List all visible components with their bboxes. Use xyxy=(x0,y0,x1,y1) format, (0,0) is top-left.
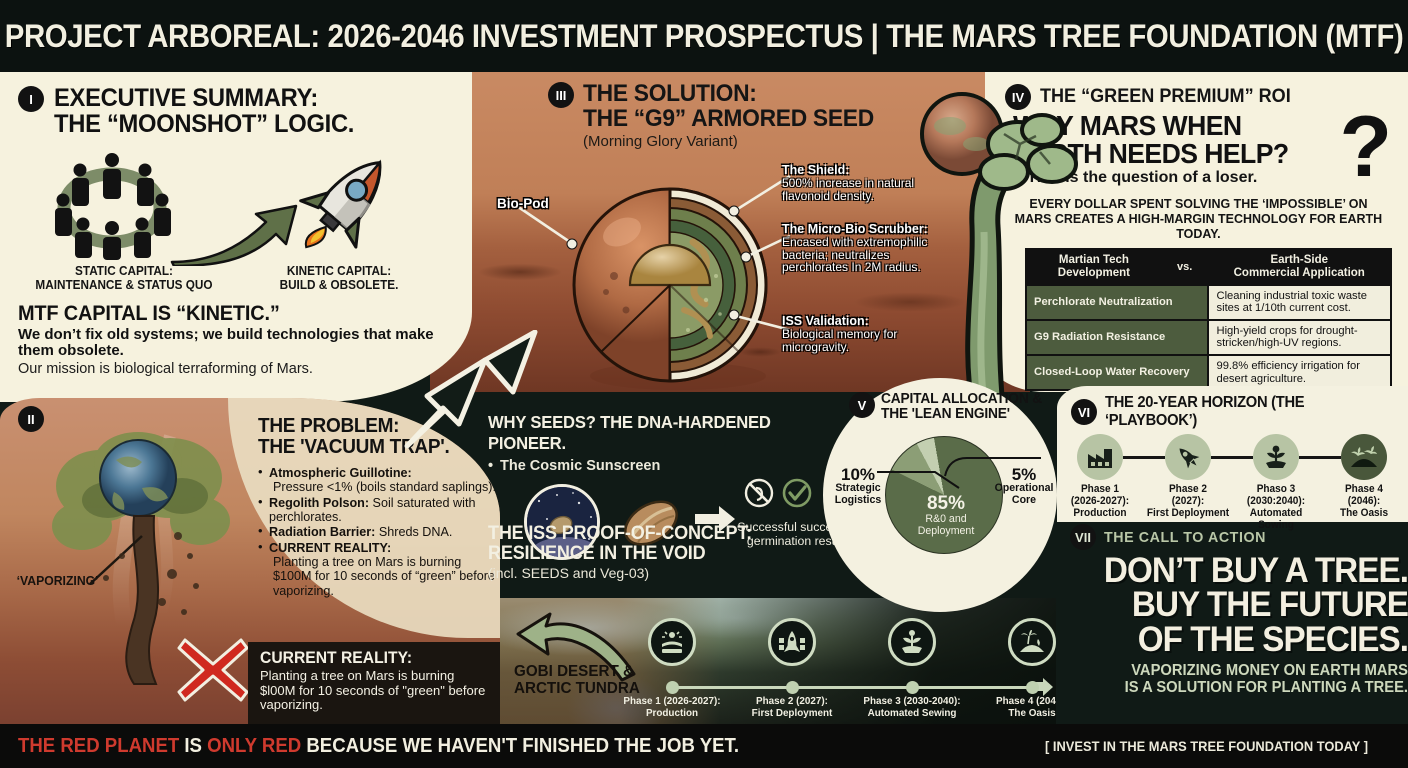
success-check-icon xyxy=(782,478,812,508)
rocket-launch-icon xyxy=(778,630,806,654)
table-row: Perchlorate Neutralization Cleaning indu… xyxy=(1027,285,1390,320)
oasis-icon xyxy=(1349,445,1379,469)
callout-desc: Encased with extremophilic bacteria; neu… xyxy=(782,236,950,274)
cta-headline: DON’T BUY A TREE. BUY THE FUTURE OF THE … xyxy=(1087,554,1408,657)
timeline-caption-phase-2: Phase 2 (2027): First Deployment xyxy=(735,696,849,721)
footer-mid-2: BECAUSE WE HAVEN'T FINISHED THE JOB YET. xyxy=(301,735,739,757)
caption-static-capital: STATIC CAPITAL: MAINTENANCE & STATUS QUO xyxy=(21,264,228,292)
executive-header: I EXECUTIVE SUMMARY: THE “MOONSHOT” LOGI… xyxy=(0,72,472,138)
callout-the-shield: The Shield: 500% increase in natural fla… xyxy=(782,163,950,202)
iss-title: THE ISS PROOF-OF-CONCEPT: RESILIENCE IN … xyxy=(488,524,802,564)
callout-desc: Biological memory for microgravity. xyxy=(782,328,950,353)
bullet-label: CURRENT REALITY: xyxy=(269,541,391,555)
timeline-dot xyxy=(666,681,679,694)
playbook-node-phase-3 xyxy=(1253,434,1299,480)
cta-subline: VAPORIZING MONEY ON EARTH MARS IS A SOLU… xyxy=(1087,662,1408,696)
callout-title: The Micro-Bio Scrubber: xyxy=(782,222,950,236)
playbook-phase-row xyxy=(1057,434,1408,482)
current-reality-title: CURRENT REALITY: xyxy=(260,649,479,668)
sprout-icon xyxy=(1263,444,1289,470)
factory-icon xyxy=(1087,445,1113,469)
section-numeral-v: V xyxy=(849,392,875,418)
cta-header: VII THE CALL TO ACTION xyxy=(1070,524,1408,550)
footer-bar: THE RED PLANET IS ONLY RED BECAUSE WE HA… xyxy=(0,724,1408,768)
pie-leader-right xyxy=(935,446,1045,480)
callout-title: The Shield: xyxy=(782,163,950,177)
timeline-caption-phase-1: Phase 1 (2026-2027): Production xyxy=(615,696,729,721)
red-x-icon xyxy=(175,634,251,706)
solution-subtitle: (Morning Glory Variant) xyxy=(583,133,889,150)
header-bar: PROJECT ARBOREAL: 2026-2046 INVESTMENT P… xyxy=(0,0,1408,72)
sprout-icon xyxy=(899,629,925,655)
pie-slice-label-rd-deployment: 85% R&0 and Deployment xyxy=(903,494,989,537)
pie-slice-pct: 85% xyxy=(903,494,989,513)
section-call-to-action: VII THE CALL TO ACTION DON’T BUY A TREE.… xyxy=(1070,524,1408,724)
section-20-year-horizon: VI THE 20-YEAR HORIZON (THE ‘PLAYBOOK’) xyxy=(1057,386,1408,522)
sunrise-soil-icon xyxy=(659,630,685,654)
people-circle-icon xyxy=(50,148,175,260)
playbook-title: THE 20-YEAR HORIZON (THE ‘PLAYBOOK’) xyxy=(1105,394,1393,430)
playbook-node-phase-4 xyxy=(1341,434,1387,480)
cta-kicker: THE CALL TO ACTION xyxy=(1104,529,1266,546)
column-header-vs: vs. xyxy=(1161,250,1209,284)
playbook-header: VI THE 20-YEAR HORIZON (THE ‘PLAYBOOK’) xyxy=(1057,386,1408,430)
list-item: CURRENT REALITY:Planting a tree on Mars … xyxy=(258,541,496,598)
transition-arrow-icon xyxy=(170,204,300,266)
why-seeds-title: WHY SEEDS? THE DNA-HARDENED PIONEER. xyxy=(488,412,849,454)
timeline-axis xyxy=(678,686,1036,689)
germination-result-icons xyxy=(744,478,812,508)
pie-header: V CAPITAL ALLOCATION & THE 'LEAN ENGINE' xyxy=(823,378,1057,422)
section-numeral-i: I xyxy=(18,86,44,112)
executive-captions: STATIC CAPITAL: MAINTENANCE & STATUS QUO… xyxy=(0,264,472,292)
infographic-stage: PROJECT ARBOREAL: 2026-2046 INVESTMENT P… xyxy=(0,0,1408,768)
playbook-connector xyxy=(1211,456,1253,459)
footer-red-2: ONLY RED xyxy=(207,735,301,757)
executive-illustration xyxy=(0,144,472,262)
solution-title: THE SOLUTION: THE “G9” ARMORED SEED xyxy=(583,82,874,131)
footer-invest-cta[interactable]: [ INVEST IN THE MARS TREE FOUNDATION TOD… xyxy=(1045,738,1368,754)
section-capital-allocation: V CAPITAL ALLOCATION & THE 'LEAN ENGINE'… xyxy=(823,378,1057,612)
current-reality-callout: CURRENT REALITY: Planting a tree on Mars… xyxy=(248,642,500,726)
rocket-icon xyxy=(1175,444,1201,470)
playbook-node-phase-2 xyxy=(1165,434,1211,480)
executive-title: EXECUTIVE SUMMARY: THE “MOONSHOT” LOGIC. xyxy=(54,86,354,138)
bullet-label: Radiation Barrier: xyxy=(269,525,375,539)
timeline-dot xyxy=(786,681,799,694)
page-title: PROJECT ARBOREAL: 2026-2046 INVESTMENT P… xyxy=(5,18,1404,55)
bullet-text: Shreds DNA. xyxy=(379,525,453,539)
problem-bullet-list: Atmospheric Guillotine:Pressure <1% (boi… xyxy=(258,466,496,598)
playbook-connector xyxy=(1123,456,1165,459)
column-header-earth-side: Earth-Side Commercial Application xyxy=(1208,250,1390,284)
section-numeral-iii: III xyxy=(548,82,574,108)
timeline-node-phase-4 xyxy=(1008,618,1056,666)
armored-seed-cutaway-illustration xyxy=(548,180,798,395)
cell-earth-application: High-yield crops for drought-stricken/hi… xyxy=(1208,320,1390,355)
pie-chart-title: CAPITAL ALLOCATION & THE 'LEAN ENGINE' xyxy=(881,392,1048,422)
caption-kinetic-capital: KINETIC CAPITAL: BUILD & OBSOLETE. xyxy=(240,264,437,292)
timeline-node-phase-2 xyxy=(768,618,816,666)
bullet-text: Planting a tree on Mars is burning $100M… xyxy=(269,555,496,598)
section-numeral-vi: VI xyxy=(1071,399,1097,425)
executive-headline: MTF CAPITAL IS “KINETIC.” xyxy=(18,302,434,326)
rocket-icon xyxy=(285,144,405,264)
list-item: Regolith Polson: Soil saturated with per… xyxy=(258,496,496,525)
playbook-node-phase-1 xyxy=(1077,434,1123,480)
earth-analog-timeline: GOBI DESERT & ARCTIC TUNDRA xyxy=(496,598,1056,726)
timeline-dot xyxy=(906,681,919,694)
callout-bio-pod: Bio-Pod xyxy=(497,196,549,211)
table-row: Closed-Loop Water Recovery 99.8% efficie… xyxy=(1027,355,1390,389)
palm-oasis-icon xyxy=(1018,630,1046,654)
bullet-label: Regolith Polson: xyxy=(269,496,369,510)
current-reality-text: Planting a tree on Mars is burning $l00M… xyxy=(260,669,490,713)
callout-title: ISS Validation: xyxy=(782,314,950,328)
table-header-row: Martian Tech Development vs. Earth-Side … xyxy=(1027,250,1390,284)
playbook-connector xyxy=(1299,456,1341,459)
section-numeral-vii: VII xyxy=(1070,524,1096,550)
list-item: Radiation Barrier: Shreds DNA. xyxy=(258,525,496,539)
timeline-dot xyxy=(1026,681,1039,694)
list-item: Atmospheric Guillotine:Pressure <1% (boi… xyxy=(258,466,496,495)
bullet-label: Atmospheric Guillotine: xyxy=(269,466,412,480)
why-seeds-bullet: The Cosmic Sunscreen xyxy=(488,458,868,474)
table-row: G9 Radiation Resistance High-yield crops… xyxy=(1027,320,1390,355)
timeline-caption-phase-4: Phase 4 (2046): The Oasis xyxy=(975,696,1056,721)
callout-desc: 500% increase in natural flavonoid densi… xyxy=(782,177,950,202)
footer-red-1: THE RED PLANET xyxy=(18,735,179,757)
callout-micro-bio-scrubber: The Micro-Bio Scrubber: Encased with ext… xyxy=(782,222,950,274)
question-mark-icon: ? xyxy=(1339,104,1392,190)
gobi-desert-label: GOBI DESERT & ARCTIC TUNDRA xyxy=(514,664,640,698)
timeline-caption-phase-3: Phase 3 (2030-2040): Automated Sewing xyxy=(855,696,969,721)
roi-comparison-table: Martian Tech Development vs. Earth-Side … xyxy=(1025,248,1392,391)
iss-subtitle: (incl. SEEDS and Veg-03) xyxy=(488,565,818,581)
pie-chart: 10% Strategic Logistics 5% Operational C… xyxy=(823,422,1057,572)
footer-mid-1: IS xyxy=(179,735,207,757)
vaporizing-label: ‘VAPORIZING’ xyxy=(17,573,99,588)
section-solution-header: III THE SOLUTION: THE “G9” ARMORED SEED … xyxy=(548,82,889,150)
pie-slice-name: R&0 and Deployment xyxy=(903,514,989,537)
timeline-node-phase-1 xyxy=(648,618,696,666)
footer-tagline: THE RED PLANET IS ONLY RED BECAUSE WE HA… xyxy=(18,735,739,758)
callout-iss-validation: ISS Validation: Biological memory for mi… xyxy=(782,314,950,353)
cell-earth-application: Cleaning industrial toxic waste sites at… xyxy=(1208,285,1390,320)
cell-earth-application: 99.8% efficiency irrigation for desert a… xyxy=(1208,355,1390,389)
bullet-text: Pressure <1% (boils standard saplings). xyxy=(269,480,496,494)
section-iss-proof: THE ISS PROOF-OF-CONCEPT: RESILIENCE IN … xyxy=(488,524,818,581)
no-germination-icon xyxy=(744,478,774,508)
timeline-node-phase-3 xyxy=(888,618,936,666)
